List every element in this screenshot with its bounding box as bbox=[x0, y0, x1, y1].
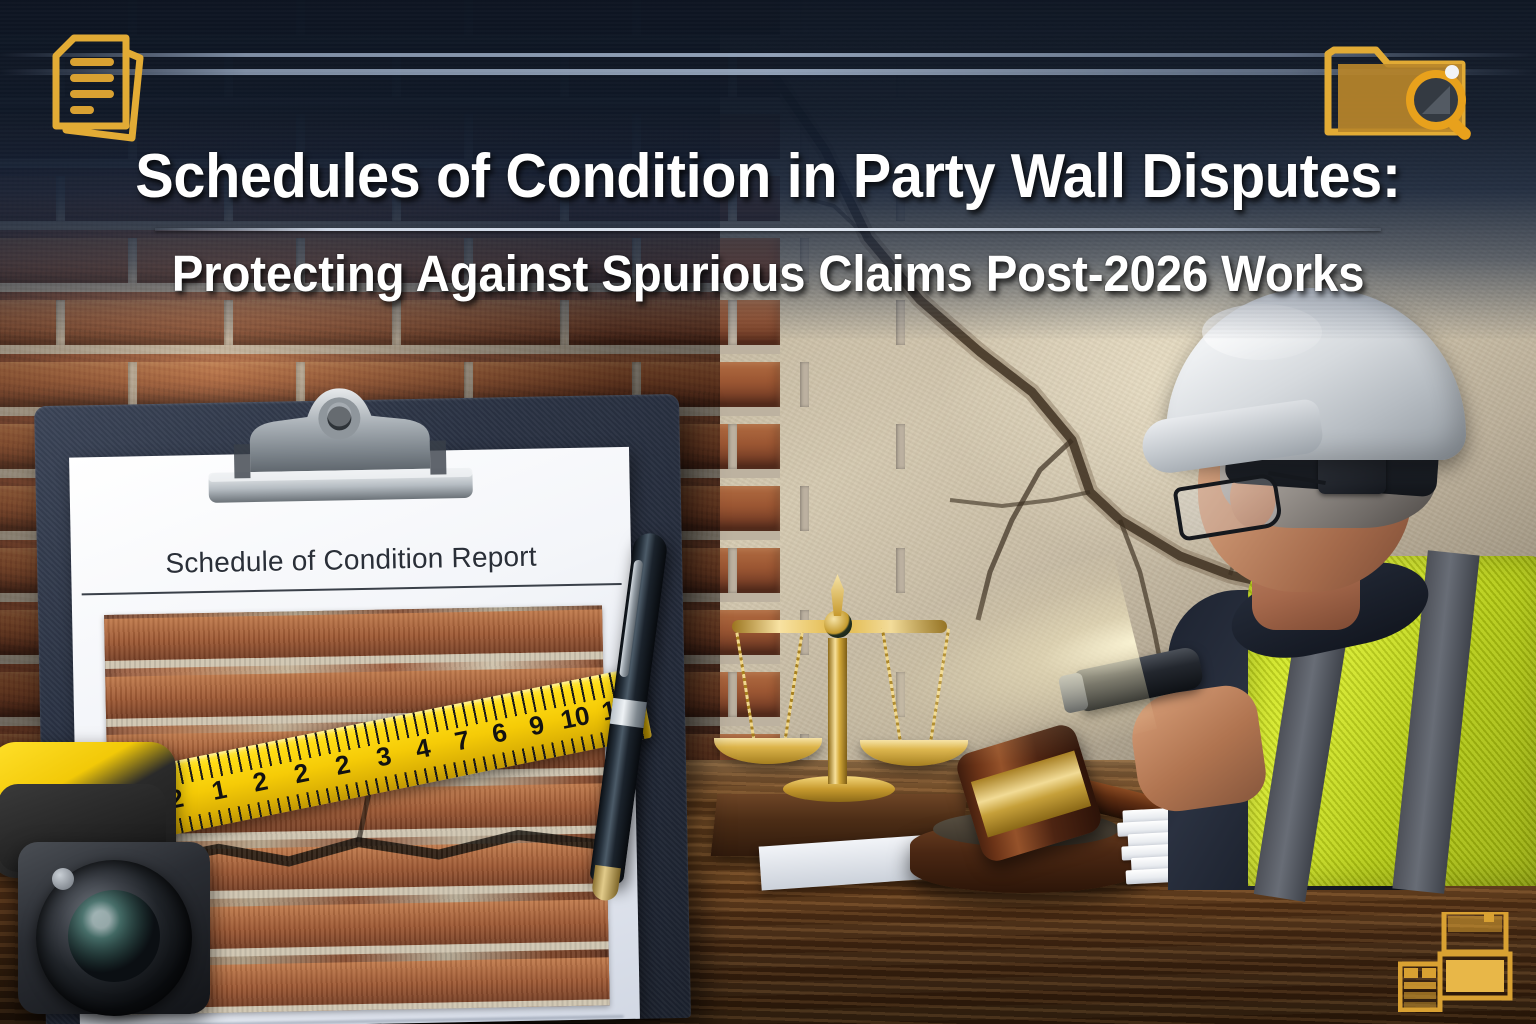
page-subtitle: Protecting Against Spurious Claims Post-… bbox=[54, 248, 1482, 299]
report-layout-icon bbox=[1398, 912, 1514, 1012]
glasses-icon bbox=[1176, 472, 1308, 538]
report-title: Schedule of Condition Report bbox=[71, 539, 632, 582]
report-title-rule bbox=[82, 583, 622, 595]
banner-image: Schedule of Condition Report bbox=[0, 0, 1536, 1024]
header-rule-bottom bbox=[0, 69, 1536, 75]
site-inspector bbox=[1080, 260, 1536, 880]
title-divider bbox=[155, 228, 1381, 231]
header-rule-top bbox=[0, 53, 1536, 57]
documents-stack-icon bbox=[22, 26, 150, 150]
dslr-camera-icon bbox=[0, 742, 220, 1024]
clipboard-clip bbox=[189, 382, 491, 510]
folder-magnifier-icon bbox=[1312, 28, 1478, 150]
page-title: Schedules of Condition in Party Wall Dis… bbox=[54, 146, 1482, 208]
